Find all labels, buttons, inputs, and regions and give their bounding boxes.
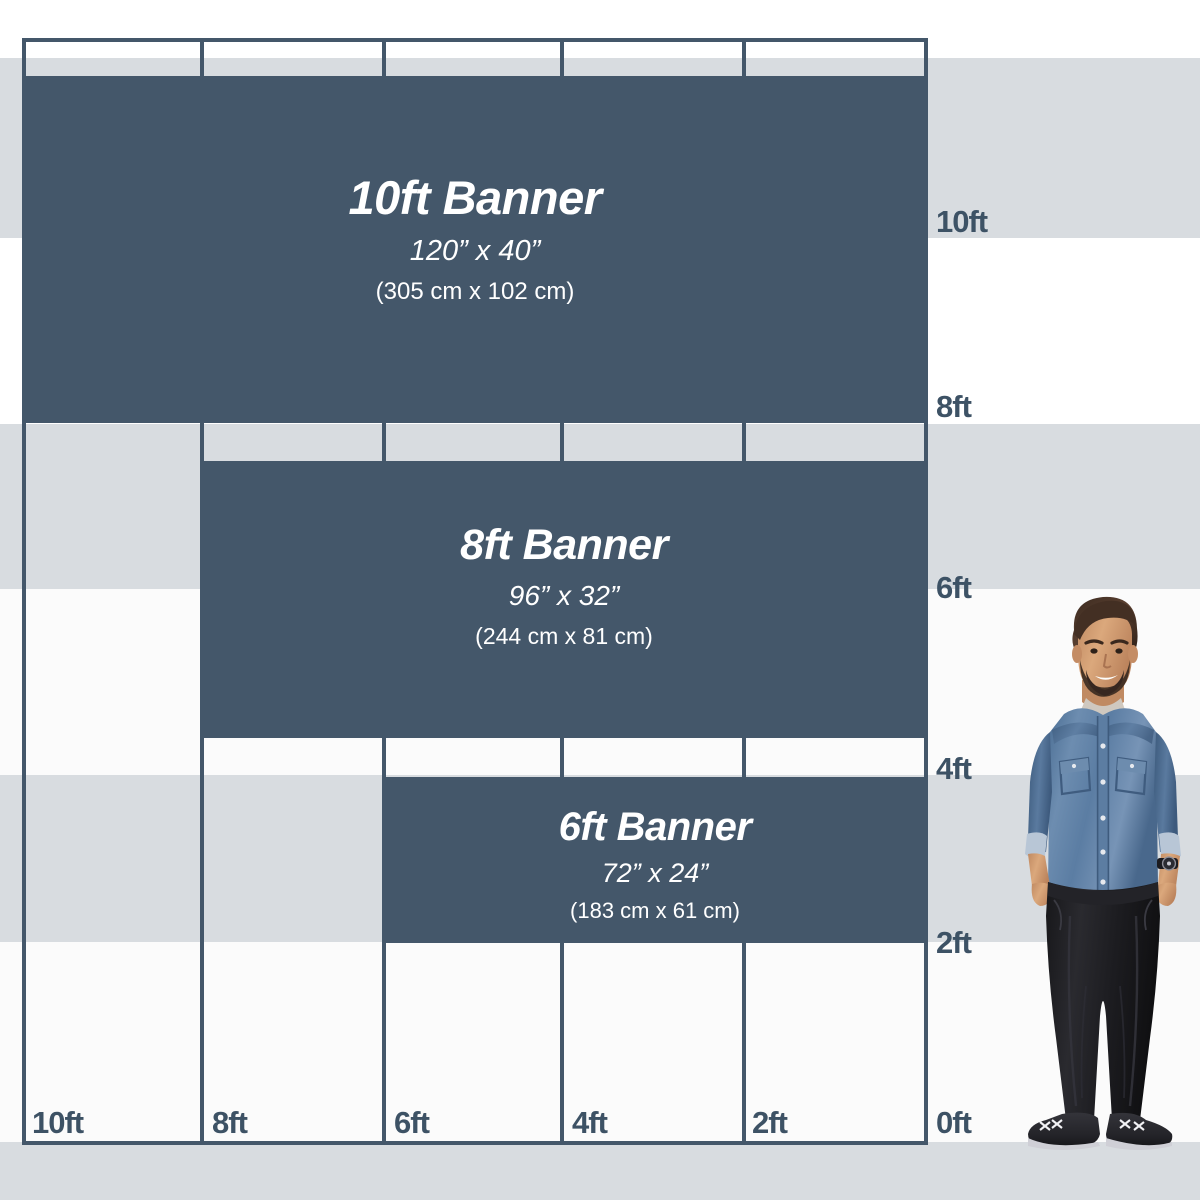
horizontal-scale-label-2ft: 2ft [752,1105,787,1141]
vertical-scale-label-4ft: 4ft [936,751,971,787]
banner-8ft[interactable]: 8ft Banner 96” x 32” (244 cm x 81 cm) [200,461,928,738]
banner-size-comparison-chart: 10ft Banner 120” x 40” (305 cm x 102 cm)… [0,0,1200,1200]
banner-8ft-cm: (244 cm x 81 cm) [200,623,928,650]
horizontal-scale-label-8ft: 8ft [212,1105,247,1141]
banner-6ft[interactable]: 6ft Banner 72” x 24” (183 cm x 61 cm) [382,777,928,943]
banner-10ft-inches: 120” x 40” [22,235,928,268]
horizontal-scale-label-6ft: 6ft [394,1105,429,1141]
banner-10ft[interactable]: 10ft Banner 120” x 40” (305 cm x 102 cm) [22,76,928,423]
banner-10ft-title: 10ft Banner [22,170,928,225]
vertical-scale-label-8ft: 8ft [936,389,971,425]
banner-8ft-title: 8ft Banner [200,521,928,570]
banner-8ft-inches: 96” x 32” [200,580,928,612]
vertical-scale-label-0ft: 0ft [936,1105,971,1141]
banner-6ft-cm: (183 cm x 61 cm) [382,898,928,924]
person-scale-figure [1006,586,1200,1152]
horizontal-scale-label-4ft: 4ft [572,1105,607,1141]
banner-6ft-inches: 72” x 24” [382,858,928,889]
vertical-scale-label-2ft: 2ft [936,925,971,961]
banner-6ft-title: 6ft Banner [382,805,928,850]
vertical-scale-label-6ft: 6ft [936,570,971,606]
banner-10ft-cm: (305 cm x 102 cm) [22,278,928,306]
vertical-scale-label-10ft: 10ft [936,204,987,240]
horizontal-scale-label-10ft: 10ft [32,1105,83,1141]
